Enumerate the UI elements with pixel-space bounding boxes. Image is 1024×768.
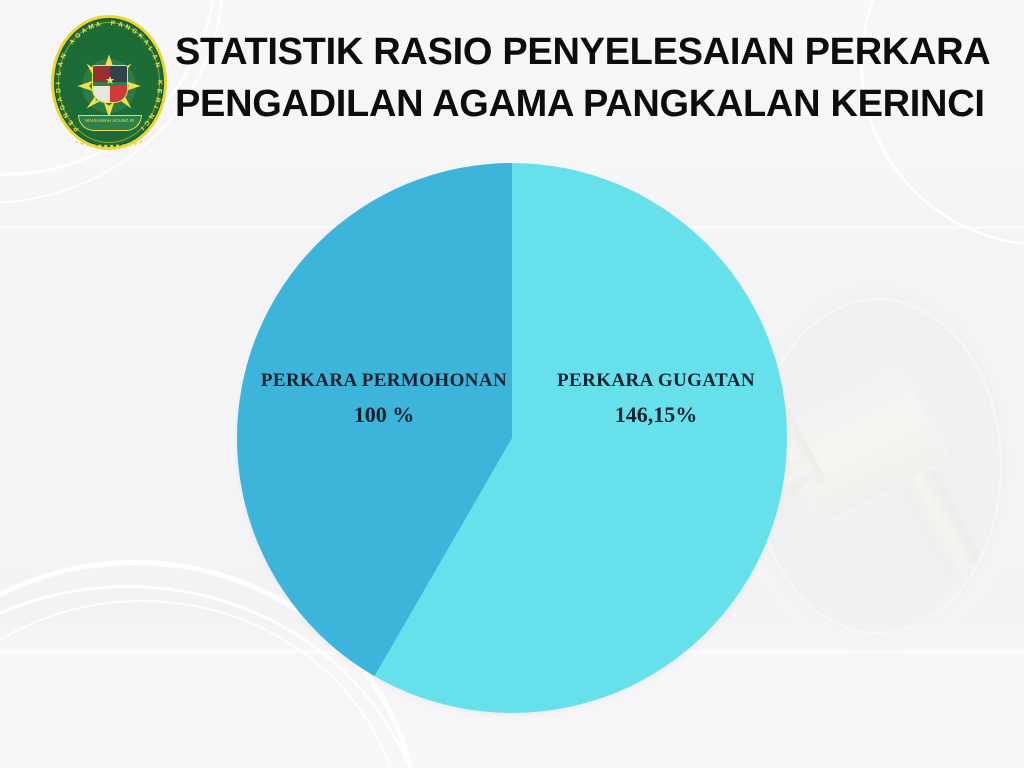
pie-surface[interactable] — [237, 163, 787, 713]
title-line-2: PENGADILAN AGAMA PANGKALAN KERINCI — [175, 78, 1005, 130]
logo-chain-icon — [72, 127, 146, 148]
logo-ribbon-label: MAHKAMAH AGUNG RI — [79, 118, 141, 123]
slide-canvas: PENGADILAN AGAMA PANGKALAN KERINCI — [0, 0, 1024, 768]
court-logo: PENGADILAN AGAMA PANGKALAN KERINCI — [51, 15, 167, 150]
logo-shield-icon: ★ — [92, 65, 128, 103]
pie-chart: PERKARA PERMOHONAN 100 % PERKARA GUGATAN… — [237, 163, 787, 713]
title-line-1: STATISTIK RASIO PENYELESAIAN PERKARA — [175, 26, 1005, 78]
slide-header: PENGADILAN AGAMA PANGKALAN KERINCI — [0, 0, 1024, 160]
page-title: STATISTIK RASIO PENYELESAIAN PERKARA PEN… — [175, 26, 1005, 130]
